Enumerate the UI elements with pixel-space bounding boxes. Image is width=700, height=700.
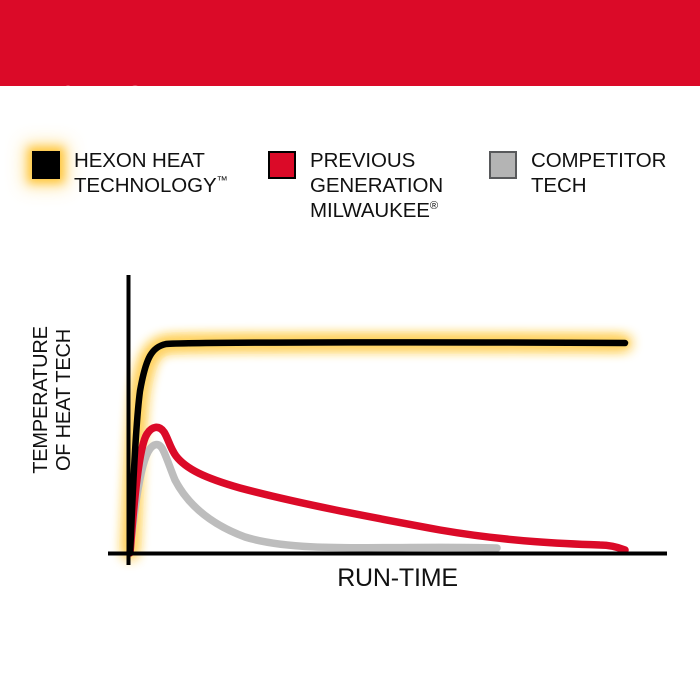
y-axis-label: TEMPERATURE OF HEAT TECH [30,275,76,525]
legend-label-hexon-heat-technology: HEXON HEAT TECHNOLOGY™ [74,148,228,198]
legend-label-previous-generation-milwaukee: PREVIOUS GENERATION MILWAUKEE® [310,148,443,223]
legend-label-competitor-tech: COMPETITOR TECH [531,148,666,198]
legend-item-competitor-tech: COMPETITOR TECH [489,148,689,198]
x-axis-label: RUN-TIME [128,564,667,593]
legend-swatch-red-icon [268,151,296,179]
legend-item-hexon-heat-technology: HEXON HEAT TECHNOLOGY™ [32,148,247,198]
chart-legend: HEXON HEAT TECHNOLOGY™ PREVIOUS GENERATI… [0,148,700,238]
legend-label-previous-text: PREVIOUS GENERATION MILWAUKEE [310,149,443,222]
trademark-symbol-icon: ™ [217,175,228,187]
legend-item-previous-generation-milwaukee: PREVIOUS GENERATION MILWAUKEE® [268,148,473,223]
legend-label-hexon-text: HEXON HEAT TECHNOLOGY [74,149,217,197]
legend-swatch-gray-icon [489,151,517,179]
legend-label-competitor-text: COMPETITOR TECH [531,149,666,197]
legend-swatch-black-icon [32,151,60,179]
performance-chart: TEMPERATURE OF HEAT TECH RUN-TIME [0,262,700,622]
series-line-previous-generation-milwaukee [130,427,625,553]
page-title-line-1: WORKS HARDER [27,80,339,116]
registered-symbol-icon: ® [430,200,438,212]
header-banner: WORKS HARDER IN FREEZING TEMPS [0,0,700,86]
